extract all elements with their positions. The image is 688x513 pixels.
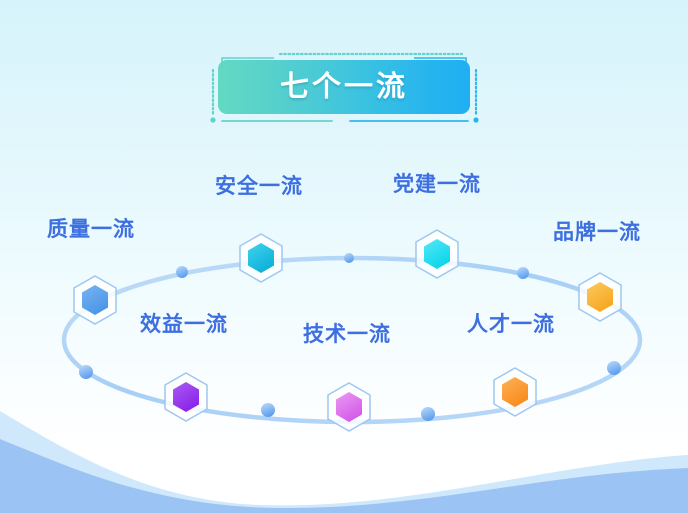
orbit-dot-2 (344, 253, 354, 263)
node-label-party-building[interactable]: 党建一流 (393, 168, 481, 198)
node-safety[interactable] (240, 234, 282, 282)
title-banner: 七个一流 (200, 48, 488, 126)
node-label-talent[interactable]: 人才一流 (467, 308, 555, 338)
title-gradient-box: 七个一流 (218, 60, 470, 114)
frame-dot-bottom-left (210, 117, 215, 122)
frame-dot-bottom-right (473, 117, 478, 122)
node-benefit[interactable] (165, 373, 207, 421)
node-label-safety[interactable]: 安全一流 (215, 170, 303, 200)
node-label-benefit[interactable]: 效益一流 (140, 308, 228, 338)
node-label-quality[interactable]: 质量一流 (47, 213, 135, 243)
node-label-technology[interactable]: 技术一流 (303, 318, 391, 348)
orbit-dot-6 (421, 407, 435, 421)
node-label-brand[interactable]: 品牌一流 (553, 216, 641, 246)
orbit-dot-7 (607, 361, 621, 375)
page-title: 七个一流 (280, 73, 408, 102)
orbit-dot-3 (517, 267, 529, 279)
infographic-stage: 质量一流安全一流党建一流品牌一流效益一流技术一流人才一流 七个一流 (0, 0, 688, 513)
node-party-building[interactable] (416, 230, 458, 278)
node-brand[interactable] (579, 273, 621, 321)
orbit-dot-1 (176, 266, 188, 278)
orbit-dot-4 (79, 365, 93, 379)
orbit-dot-5 (261, 403, 275, 417)
node-quality[interactable] (74, 276, 116, 324)
connector-lines-group (95, 184, 600, 383)
